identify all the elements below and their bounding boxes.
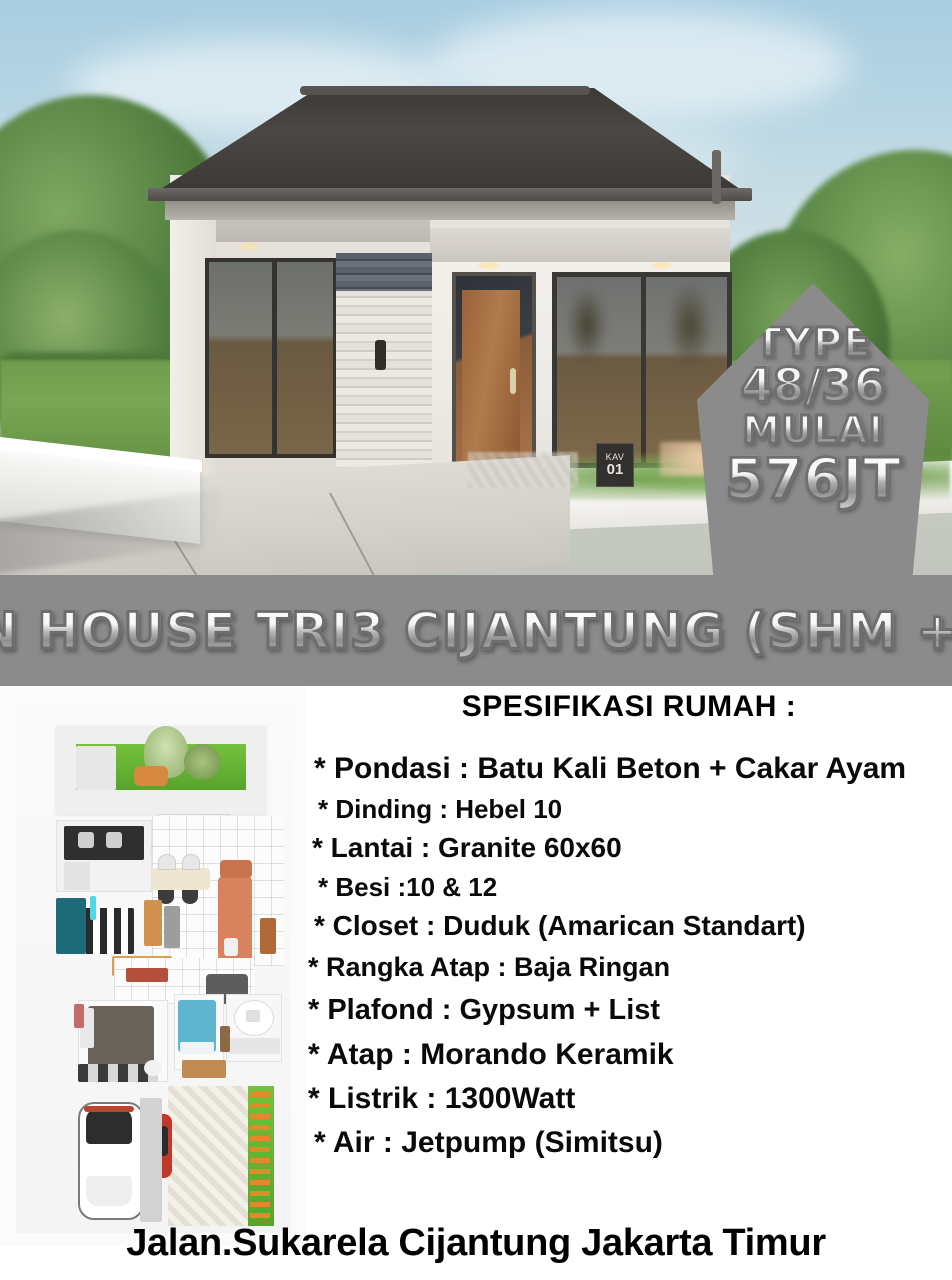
title-banner: TOWN HOUSE TRI3 CIJANTUNG (SHM + IMB) — [0, 575, 952, 686]
left-sliding-glass-door — [205, 258, 337, 458]
real-estate-flyer: KAV 01 TYPE 48/36 MULAI 576JT TOWN HOUSE… — [0, 0, 952, 1280]
specification-item: * Rangka Atap : Baja Ringan — [306, 954, 952, 981]
specification-item: * Listrik : 1300Watt — [306, 1084, 952, 1114]
entry-soffit — [430, 228, 730, 262]
specification-item: * Atap : Morando Keramik — [306, 1040, 952, 1070]
window-mullion — [641, 277, 646, 463]
specification-item: * Plafond : Gypsum + List — [306, 996, 952, 1025]
wall-lamp — [375, 340, 386, 370]
ceiling-downlight — [650, 262, 672, 269]
floor-plan-image — [0, 686, 306, 1246]
paver-area — [468, 452, 578, 488]
ceiling-downlight — [238, 243, 260, 250]
roof-eave-gutter — [148, 188, 752, 201]
specifications-title: SPESIFIKASI RUMAH : — [306, 690, 952, 724]
badge-price-value: 576JT — [725, 451, 901, 508]
specification-item: * Besi :10 & 12 — [306, 874, 952, 900]
downpipe — [712, 150, 721, 204]
specifications-list: * Pondasi : Batu Kali Beton + Cakar Ayam… — [306, 754, 952, 1168]
door-handle — [510, 368, 516, 394]
banner-title-text: TOWN HOUSE TRI3 CIJANTUNG (SHM + IMB) — [0, 602, 952, 660]
lower-section: SPESIFIKASI RUMAH : * Pondasi : Batu Kal… — [0, 686, 952, 1280]
address-line: Jalan.Sukarela Cijantung Jakarta Timur — [0, 1222, 952, 1265]
specification-item: * Lantai : Granite 60x60 — [306, 834, 952, 862]
specification-item: * Dinding : Hebel 10 — [306, 796, 952, 822]
dark-stone-header — [336, 253, 432, 291]
specification-item: * Pondasi : Batu Kali Beton + Cakar Ayam — [306, 754, 952, 784]
specification-item: * Air : Jetpump (Simitsu) — [306, 1128, 952, 1158]
badge-type-value: 48/36 — [741, 362, 886, 409]
specifications-panel: SPESIFIKASI RUMAH : * Pondasi : Batu Kal… — [306, 686, 952, 1246]
specification-item: * Closet : Duduk (Amarican Standart) — [306, 912, 952, 940]
floor-plan-canvas — [16, 708, 291, 1233]
kavling-plaque-number: 01 — [607, 462, 624, 477]
ceiling-downlight — [478, 262, 500, 269]
glass-reflection — [567, 285, 607, 365]
roof-underside — [165, 198, 735, 220]
roof-ridge — [300, 86, 590, 95]
glass-reflection — [667, 281, 713, 371]
badge-price-label: MULAI — [742, 411, 883, 450]
window-mullion — [272, 262, 277, 454]
kavling-plaque: KAV 01 — [596, 443, 634, 487]
